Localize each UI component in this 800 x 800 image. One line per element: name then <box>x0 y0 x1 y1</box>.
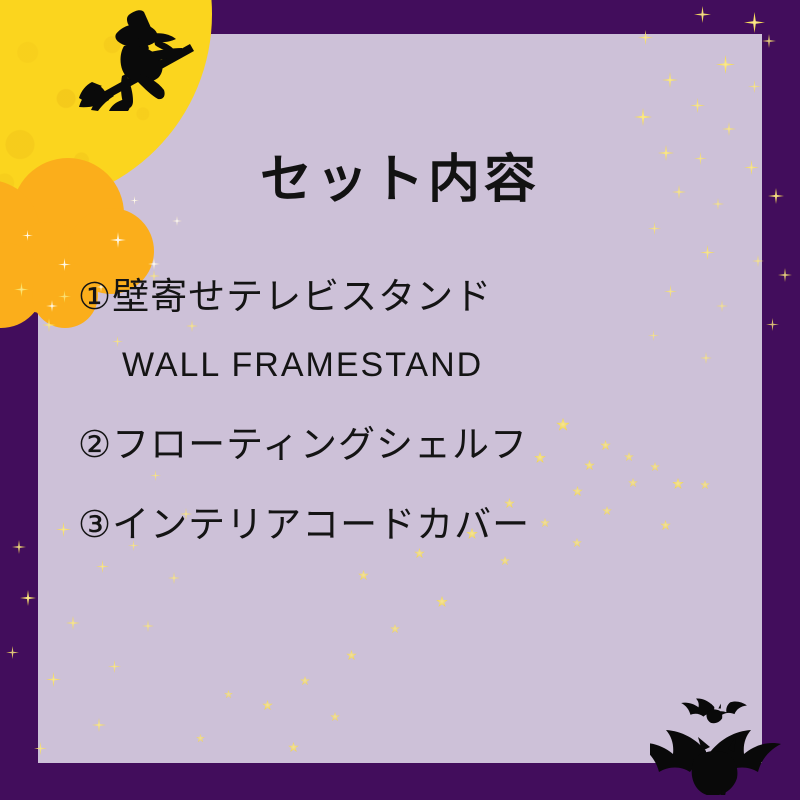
list-item-2-jp: ②フローティングシェルフ <box>78 426 718 463</box>
poster-canvas: セット内容 ①壁寄せテレビスタンド WALL FRAMESTAND ②フローティ… <box>0 0 800 800</box>
set-contents-list: ①壁寄せテレビスタンド WALL FRAMESTAND ②フローティングシェルフ… <box>78 278 718 543</box>
star-sparkle-icon <box>766 318 779 331</box>
list-item-1-jp: ①壁寄せテレビスタンド <box>78 278 718 315</box>
star-sparkle-icon <box>6 646 19 659</box>
page-title: セット内容 <box>0 152 800 209</box>
star-sparkle-icon <box>762 34 776 48</box>
star-sparkle-icon <box>12 540 26 554</box>
bat-icon <box>650 685 800 795</box>
list-item-3-jp: ③インテリアコードカバー <box>78 506 718 543</box>
star-sparkle-icon <box>20 590 36 606</box>
star-sparkle-icon <box>694 6 711 23</box>
star-sparkle-icon <box>744 12 765 33</box>
list-item-1-en: WALL FRAMESTAND <box>122 348 718 382</box>
witch-on-broom-icon <box>78 8 208 113</box>
star-sparkle-icon <box>778 268 792 282</box>
